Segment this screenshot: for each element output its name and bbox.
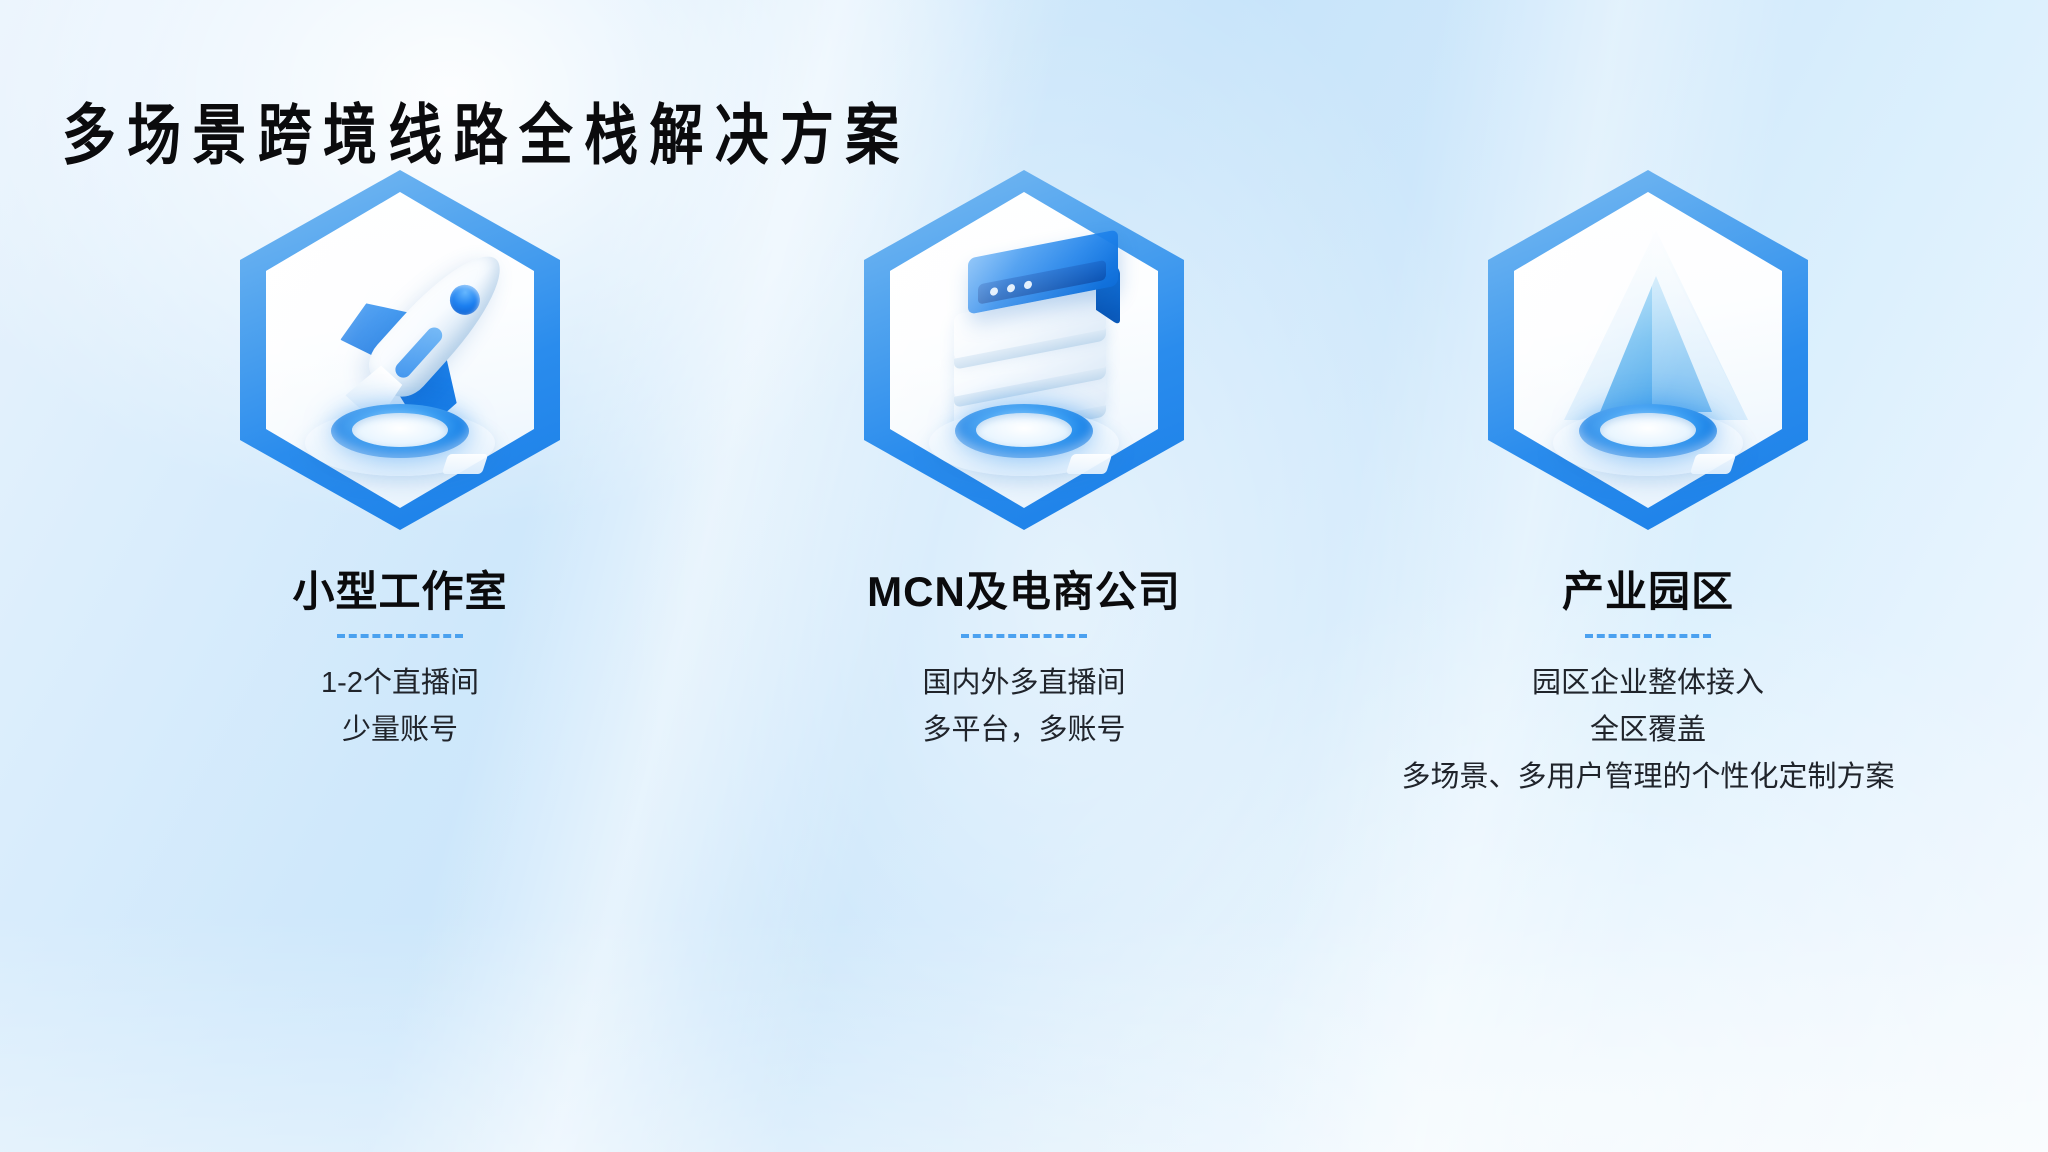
solution-card-industrial-park[interactable]: 产业园区 园区企业整体接入 全区覆盖 多场景、多用户管理的个性化定制方案 xyxy=(1368,170,1928,801)
rocket-icon xyxy=(240,170,560,530)
pyramid-icon xyxy=(1488,170,1808,530)
glow-disc-base-1 xyxy=(305,400,495,478)
hexagon-badge-3 xyxy=(1488,170,1808,530)
disc-notch xyxy=(1690,454,1736,474)
solution-card-mcn-ecommerce[interactable]: MCN及电商公司 国内外多直播间 多平台，多账号 xyxy=(744,170,1304,801)
disc-hole xyxy=(1600,413,1696,447)
glow-disc-base-2 xyxy=(929,400,1119,478)
server-led-dot xyxy=(1007,283,1015,293)
hexagon-badge-1 xyxy=(240,170,560,530)
card-description-1: 1-2个直播间 少量账号 xyxy=(321,660,479,754)
card-divider-3 xyxy=(1585,634,1711,638)
card-title-2: MCN及电商公司 xyxy=(867,564,1181,620)
card-title-3: 产业园区 xyxy=(1562,564,1734,620)
solution-card-small-studio[interactable]: 小型工作室 1-2个直播间 少量账号 xyxy=(120,170,680,801)
card-divider-1 xyxy=(337,634,463,638)
solution-card-list: 小型工作室 1-2个直播间 少量账号 xyxy=(0,170,2048,801)
disc-notch xyxy=(1066,454,1112,474)
card-title-1: 小型工作室 xyxy=(292,564,507,620)
card-desc-line: 多场景、多用户管理的个性化定制方案 xyxy=(1401,754,1894,801)
page-title: 多场景跨境线路全栈解决方案 xyxy=(62,93,911,178)
card-desc-line: 全区覆盖 xyxy=(1401,707,1894,754)
server-stack-icon xyxy=(864,170,1184,530)
slide-root: 多场景跨境线路全栈解决方案 xyxy=(0,0,2048,1152)
card-divider-2 xyxy=(961,634,1087,638)
server-led-dot xyxy=(1024,280,1032,290)
card-desc-line: 1-2个直播间 xyxy=(321,660,479,707)
card-desc-line: 多平台，多账号 xyxy=(922,707,1125,754)
card-description-3: 园区企业整体接入 全区覆盖 多场景、多用户管理的个性化定制方案 xyxy=(1401,660,1894,801)
disc-notch xyxy=(442,454,488,474)
server-led-dot xyxy=(990,287,998,297)
hexagon-badge-2 xyxy=(864,170,1184,530)
card-desc-line: 园区企业整体接入 xyxy=(1401,660,1894,707)
card-desc-line: 国内外多直播间 xyxy=(922,660,1125,707)
disc-hole xyxy=(976,413,1072,447)
disc-hole xyxy=(352,413,448,447)
card-description-2: 国内外多直播间 多平台，多账号 xyxy=(922,660,1125,754)
glow-disc-base-3 xyxy=(1553,400,1743,478)
card-desc-line: 少量账号 xyxy=(321,707,479,754)
